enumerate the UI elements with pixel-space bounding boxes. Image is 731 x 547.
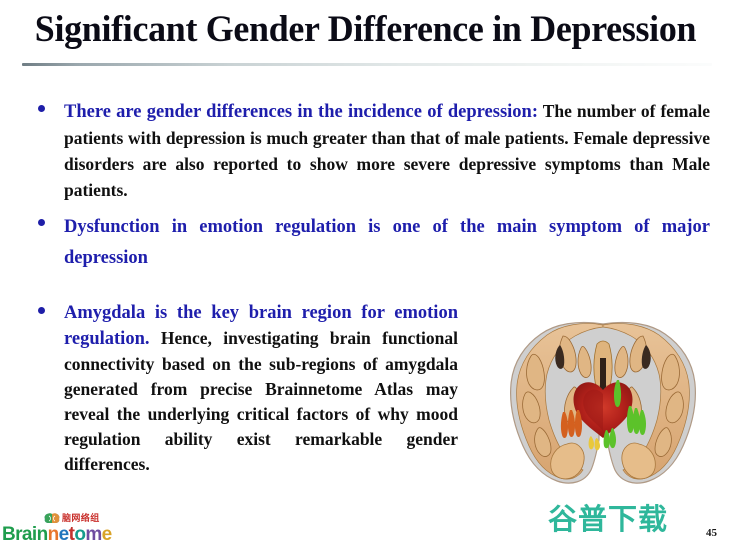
logo-wordmark: Brainnetome [2, 525, 112, 544]
amygdala-orange-subregion [561, 410, 582, 438]
watermark-text: 谷普下载 [548, 503, 668, 537]
bullet-marker-icon [38, 307, 45, 314]
page-number: 45 [706, 527, 717, 539]
bullet-text-2: Dysfunction in emotion regulation is one… [64, 212, 710, 274]
slide-canvas: Significant Gender Difference in Depress… [0, 0, 731, 547]
bullet-item-1: There are gender differences in the inci… [38, 98, 710, 203]
bullet-lead-2: Dysfunction in emotion regulation is one… [64, 217, 710, 268]
bullet-text-1: There are gender differences in the inci… [64, 98, 710, 203]
temporal-lobes [551, 443, 656, 479]
bullet-text-3: Amygdala is the key brain region for emo… [64, 300, 458, 477]
brainnetome-logo: 脑网络组 Brainnetome [2, 512, 114, 546]
bullet-item-3: Amygdala is the key brain region for emo… [38, 300, 458, 477]
logo-chinese-label: 脑网络组 [62, 512, 100, 524]
bullet-item-2: Dysfunction in emotion regulation is one… [38, 212, 710, 274]
title-divider [22, 63, 712, 66]
brain-coronal-section-image [503, 318, 703, 494]
bullet-body-3: Hence, investigating brain functional co… [64, 328, 458, 474]
bullet-lead-1: There are gender differences in the inci… [64, 102, 538, 122]
bullet-marker-icon [38, 105, 45, 112]
page-title: Significant Gender Difference in Depress… [11, 8, 720, 52]
bullet-marker-icon [38, 219, 45, 226]
